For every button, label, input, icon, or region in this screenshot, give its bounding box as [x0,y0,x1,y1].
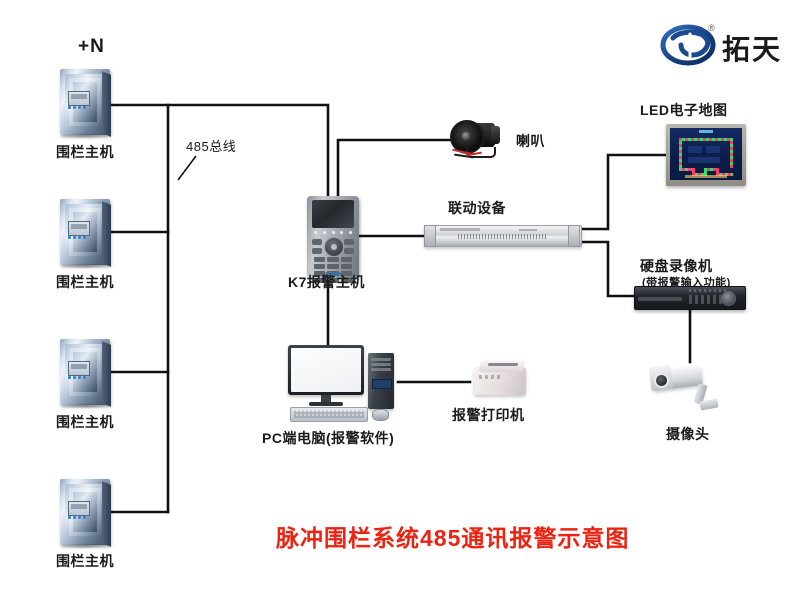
dvr-icon [634,286,744,310]
registered-mark: ® [708,23,715,33]
camera-label: 摄像头 [666,424,710,444]
alarm-printer-icon [470,357,532,399]
fence-host-2[interactable] [54,195,116,269]
fence-host-1-label: 围栏主机 [56,142,114,162]
pc-label: PC端电脑(报警软件) [262,428,394,448]
bus-label: 485总线 [186,136,236,155]
fence-host-icon [54,335,116,409]
wire-linkage-to-ledmap [580,155,666,229]
expand-label: +N [78,36,105,58]
k7-alarm-host[interactable] [307,196,359,278]
cctv-camera-icon [652,362,726,418]
fence-host-4-label: 围栏主机 [56,551,114,571]
brand-name: 拓天 [722,28,782,68]
desktop-computer-icon [288,345,398,423]
diagram-title: 脉冲围栏系统485通讯报警示意图 [276,519,629,553]
fence-host-2-label: 围栏主机 [56,272,114,292]
fence-host-4[interactable] [54,475,116,549]
camera[interactable] [652,362,726,418]
printer-label: 报警打印机 [452,405,525,425]
pc[interactable] [288,345,398,423]
speaker-label: 喇叭 [516,131,545,151]
dvr-label: 硬盘录像机 [640,256,713,276]
fence-host-icon [54,65,116,139]
dvr[interactable] [634,286,744,310]
fence-host-3-label: 围栏主机 [56,412,114,432]
fence-host-3[interactable] [54,335,116,409]
brand-logo: ® 拓天 [660,24,800,70]
speaker[interactable] [450,118,508,164]
led-map-label: LED电子地图 [640,100,728,120]
led-map-icon [666,124,746,186]
led-map[interactable] [666,124,746,186]
k7-alarm-host-icon [307,196,359,278]
horn-speaker-icon [450,118,508,164]
linkage-device-label: 联动设备 [448,198,506,218]
fence-host-icon [54,475,116,549]
rack-unit-icon [424,223,580,249]
fence-host-1[interactable] [54,65,116,139]
linkage-device[interactable] [424,223,580,249]
printer[interactable] [470,357,532,399]
wire-k7-to-speaker [338,140,452,196]
wire-linkage-to-dvr [580,242,634,296]
diagram-canvas: ® 拓天 +N 围栏主机 围栏主机 围栏主机 围 [0,0,800,600]
k7-alarm-host-label: K7报警主机 [288,272,365,292]
fence-host-icon [54,195,116,269]
